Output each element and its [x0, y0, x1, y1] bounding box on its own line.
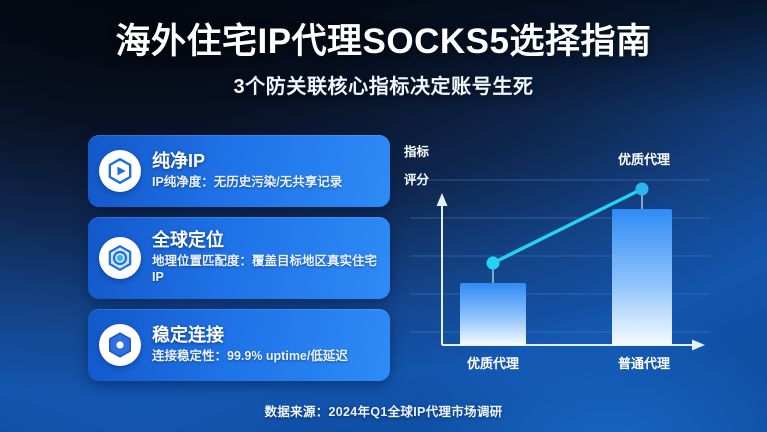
hexagon-play-icon — [99, 150, 141, 192]
chart-dot-2 — [636, 183, 649, 196]
y-axis-label-line1: 指标 — [404, 144, 430, 159]
feature-card-pure-ip[interactable]: 纯净IP IP纯净度：无历史污染/无共享记录 — [88, 135, 390, 207]
feature-card-text: 纯净IP IP纯净度：无历史污染/无共享记录 — [152, 151, 378, 190]
chart-bars — [460, 209, 672, 345]
chart-annotation-label: 优质代理 — [618, 152, 670, 167]
page-title: 海外住宅IP代理SOCKS5选择指南 — [0, 22, 767, 61]
infographic-canvas: 海外住宅IP代理SOCKS5选择指南 3个防关联核心指标决定账号生死 纯净IP … — [0, 0, 767, 432]
x-tick-label-0: 优质代理 — [467, 356, 519, 371]
feature-card-global-location[interactable]: 全球定位 地理位置匹配度：覆盖目标地区真实住宅IP — [88, 217, 390, 299]
feature-card-text: 稳定连接 连接稳定性：99.9% uptime/低延迟 — [152, 325, 378, 364]
bar-putong-daili — [612, 209, 672, 345]
page-subtitle: 3个防关联核心指标决定账号生死 — [0, 70, 767, 99]
bar-youzhi-daili — [460, 283, 526, 345]
metric-score-chart: 指标 评分 — [398, 132, 718, 397]
y-axis — [437, 193, 448, 345]
feature-card-title: 全球定位 — [152, 230, 378, 251]
hexagon-location-icon — [99, 237, 141, 279]
feature-card-desc: 地理位置匹配度：覆盖目标地区真实住宅IP — [152, 253, 378, 286]
hexagon-node-icon — [99, 324, 141, 366]
header: 海外住宅IP代理SOCKS5选择指南 3个防关联核心指标决定账号生死 — [0, 22, 767, 99]
chart-dot-1 — [487, 257, 500, 270]
feature-card-list: 纯净IP IP纯净度：无历史污染/无共享记录 全球定位 地理位置匹配度：覆盖目标… — [88, 135, 390, 391]
feature-card-title: 稳定连接 — [152, 325, 378, 346]
x-tick-label-1: 普通代理 — [618, 356, 670, 371]
feature-card-desc: IP纯净度：无历史污染/无共享记录 — [152, 174, 378, 191]
feature-card-title: 纯净IP — [152, 151, 378, 172]
data-source-note: 数据来源：2024年Q1全球IP代理市场调研 — [0, 401, 767, 420]
feature-card-stable-connection[interactable]: 稳定连接 连接稳定性：99.9% uptime/低延迟 — [88, 309, 390, 381]
feature-card-desc: 连接稳定性：99.9% uptime/低延迟 — [152, 348, 378, 365]
y-axis-label-line2: 评分 — [404, 172, 430, 187]
feature-card-text: 全球定位 地理位置匹配度：覆盖目标地区真实住宅IP — [152, 230, 378, 286]
